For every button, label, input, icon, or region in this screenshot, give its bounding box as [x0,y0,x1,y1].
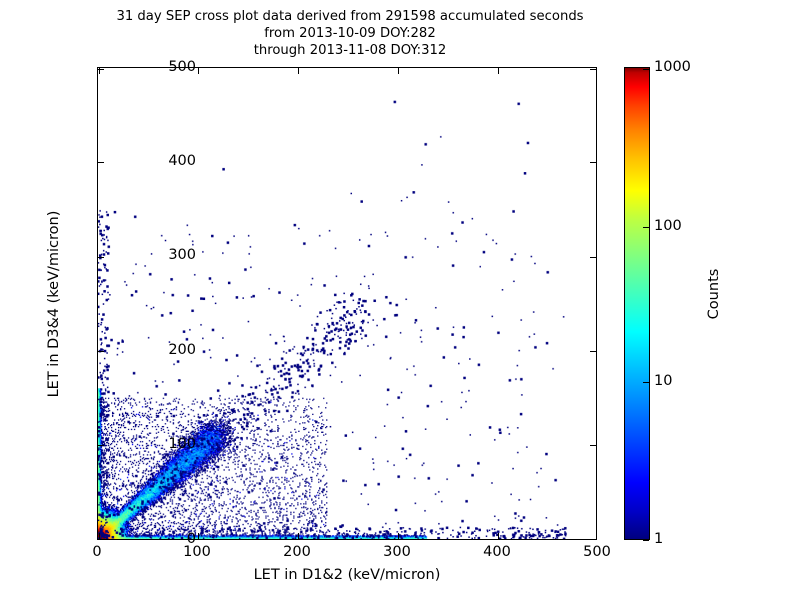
x-axis-title: LET in D1&2 (keV/micron) [97,567,597,583]
y-tick-right-300 [590,257,596,258]
y-tick-label-400: 400 [136,154,196,169]
x-tick-top-300 [398,68,399,74]
colorbar-tick-label-1: 1 [654,532,663,547]
x-tick-top-0 [99,68,100,74]
x-tick-label-400: 400 [462,545,532,560]
colorbar-title: Counts [706,214,722,374]
plot-title-line-1: 31 day SEP cross plot data derived from … [0,8,700,25]
plot-title: 31 day SEP cross plot data derived from … [0,8,700,59]
colorbar-tick-100 [643,227,649,228]
y-tick-label-500: 500 [136,60,196,75]
y-tick-label-200: 200 [136,343,196,358]
colorbar-tick-label-100: 100 [654,219,682,234]
x-tick-0 [99,533,100,539]
x-tick-label-100: 100 [162,545,232,560]
plot-title-line-3: through 2013-11-08 DOY:312 [0,42,700,59]
x-tick-label-0: 0 [62,545,132,560]
scatter-heatmap-canvas [98,68,596,539]
colorbar [624,67,650,540]
y-tick-right-200 [590,351,596,352]
x-tick-200 [298,533,299,539]
y-tick-right-400 [590,162,596,163]
y-tick-200 [98,351,104,352]
colorbar-tick-1000 [643,69,649,70]
x-tick-100 [198,533,199,539]
x-tick-300 [398,533,399,539]
x-tick-top-200 [298,68,299,74]
colorbar-tick-label-1000: 1000 [654,60,691,75]
y-axis-title: LET in D3&4 (keV/micron) [46,104,62,504]
colorbar-tick-1 [643,540,649,541]
x-tick-label-300: 300 [362,545,432,560]
x-tick-label-500: 500 [562,545,632,560]
plot-area [97,67,597,540]
y-tick-400 [98,162,104,163]
x-tick-label-200: 200 [262,545,332,560]
colorbar-gradient [624,67,650,540]
colorbar-tick-label-10: 10 [654,374,672,389]
y-tick-right-500 [590,69,596,70]
y-tick-label-100: 100 [136,437,196,452]
x-tick-top-100 [198,68,199,74]
x-tick-top-400 [498,68,499,74]
colorbar-tick-10 [643,382,649,383]
y-tick-label-300: 300 [136,248,196,263]
plot-title-line-2: from 2013-10-09 DOY:282 [0,25,700,42]
y-tick-300 [98,257,104,258]
y-tick-100 [98,445,104,446]
x-tick-400 [498,533,499,539]
y-tick-right-100 [590,445,596,446]
